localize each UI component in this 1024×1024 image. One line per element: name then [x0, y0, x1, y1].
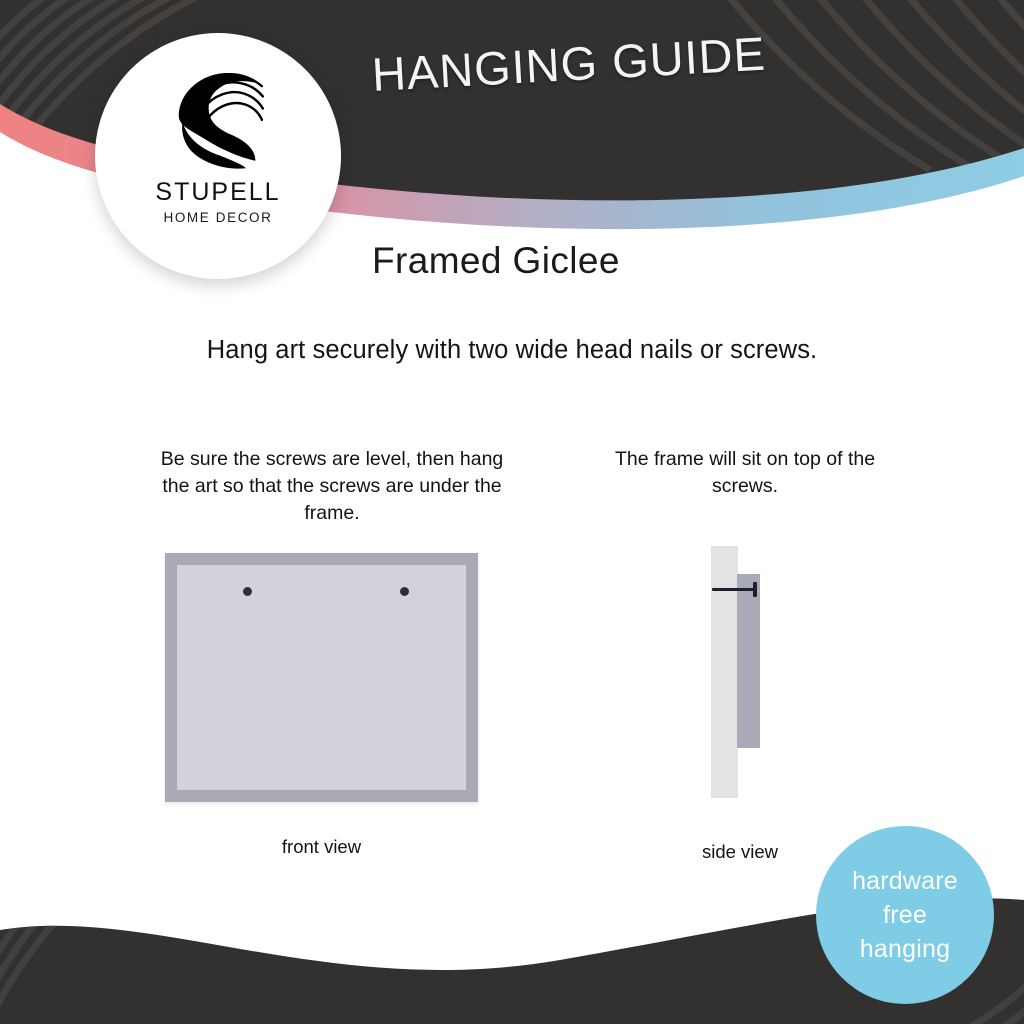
- side-view-wall: [711, 546, 738, 798]
- front-view-note: Be sure the screws are level, then hang …: [146, 446, 518, 527]
- front-view-mat: [177, 565, 466, 790]
- nail-head-icon: [753, 582, 757, 597]
- hanging-guide-page: STUPELL HOME DECOR HANGING GUIDE Framed …: [0, 0, 1024, 1024]
- brand-name: STUPELL: [155, 178, 280, 207]
- screw-dot-left: [243, 587, 252, 596]
- side-view-label: side view: [660, 841, 820, 863]
- main-instruction-text: Hang art securely with two wide head nai…: [0, 336, 1024, 365]
- front-view-diagram: [165, 553, 478, 802]
- brand-tagline: HOME DECOR: [163, 210, 272, 225]
- screw-dot-right: [400, 587, 409, 596]
- side-view-diagram: [705, 540, 775, 810]
- badge-line-3: hanging: [860, 932, 950, 966]
- hardware-free-hanging-badge: hardware free hanging: [816, 826, 994, 1004]
- side-view-frame: [737, 574, 760, 748]
- product-type-label: Framed Giclee: [372, 240, 620, 282]
- front-view-label: front view: [165, 836, 478, 858]
- page-title: HANGING GUIDE: [371, 26, 768, 102]
- badge-line-1: hardware: [852, 864, 958, 898]
- side-view-note: The frame will sit on top of the screws.: [592, 446, 898, 500]
- brand-logo-badge: STUPELL HOME DECOR: [95, 33, 341, 279]
- stupell-swoosh-logo-icon: [162, 60, 274, 172]
- nail-shaft-icon: [712, 588, 755, 591]
- badge-line-2: free: [883, 898, 927, 932]
